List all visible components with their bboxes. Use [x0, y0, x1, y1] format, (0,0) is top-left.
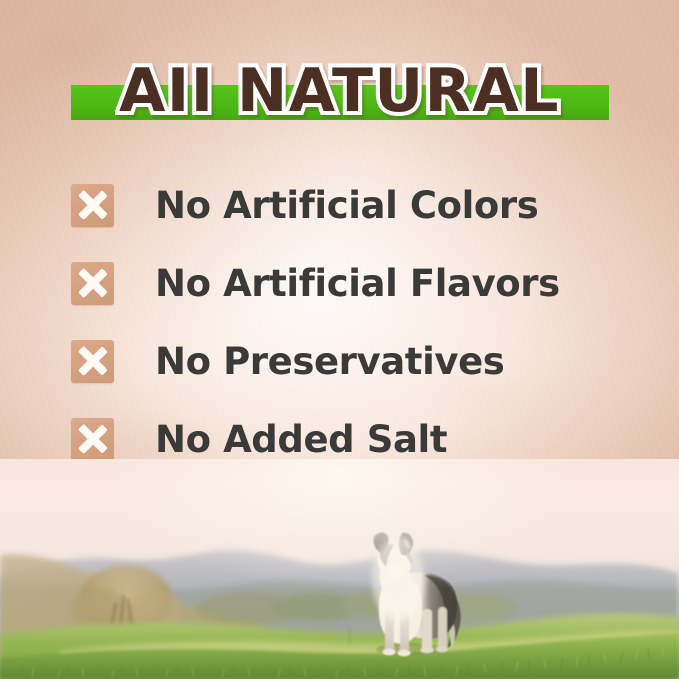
list-item: No Artificial Colors: [71, 166, 631, 244]
headline-banner: AII NATURAL: [0, 52, 679, 130]
all-natural-feature-panel: AII NATURAL No Artificial Colors No Arti…: [0, 0, 679, 679]
claims-list: No Artificial Colors No Artificial Flavo…: [71, 166, 631, 478]
page-title: AII NATURAL: [0, 52, 679, 130]
x-mark-icon: [71, 262, 114, 305]
claim-label: No Artificial Flavors: [155, 262, 631, 305]
list-item: No Preservatives: [71, 322, 631, 400]
claim-label: No Added Salt: [155, 418, 631, 461]
claim-label: No Artificial Colors: [155, 184, 631, 227]
dog-landscape-photo: [0, 459, 679, 679]
x-mark-icon: [71, 184, 114, 227]
list-item: No Artificial Flavors: [71, 244, 631, 322]
x-mark-icon: [71, 418, 114, 461]
x-mark-icon: [71, 340, 114, 383]
claim-label: No Preservatives: [155, 340, 631, 383]
